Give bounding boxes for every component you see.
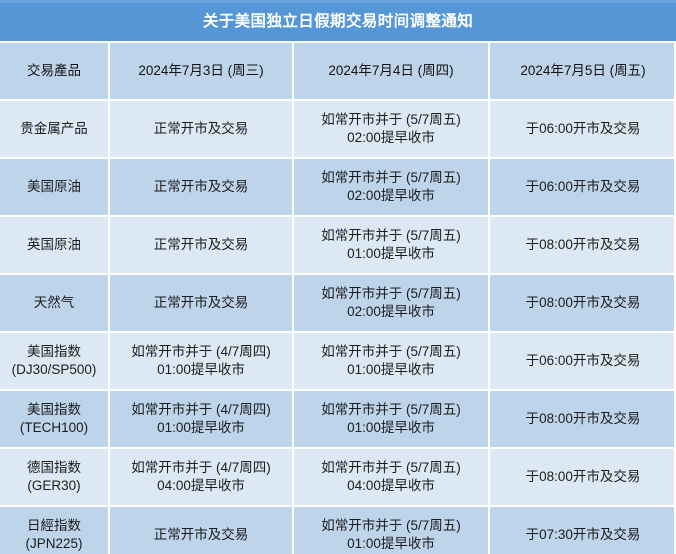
day1-line2: 04:00提早收市 (157, 477, 245, 495)
product-code: (GER30) (27, 477, 80, 495)
cell-product: 英国原油 (0, 217, 110, 273)
product-name: 日經指数 (27, 517, 81, 535)
product-name: 美国指数 (27, 343, 81, 361)
cell-day3: 于07:30开市及交易 (490, 507, 676, 554)
cell-product: 贵金属产品 (0, 101, 110, 157)
table-header-row: 交易產品 2024年7月3日 (周三) 2024年7月4日 (周四) 2024年… (0, 43, 676, 101)
day2-line1: 如常开市并于 (5/7周五) (321, 111, 461, 129)
day3-line1: 于06:00开市及交易 (526, 178, 641, 196)
day2-line1: 如常开市并于 (5/7周五) (321, 459, 461, 477)
cell-day2: 如常开市并于 (5/7周五) 01:00提早收市 (294, 391, 490, 447)
product-code: (TECH100) (20, 419, 88, 437)
cell-day1: 正常开市及交易 (110, 159, 294, 215)
column-header-day2: 2024年7月4日 (周四) (294, 43, 490, 99)
day1-line1: 正常开市及交易 (154, 178, 249, 196)
day1-line2: 01:00提早收市 (157, 419, 245, 437)
cell-product: 美国原油 (0, 159, 110, 215)
cell-day2: 如常开市并于 (5/7周五) 02:00提早收市 (294, 275, 490, 331)
column-header-day1: 2024年7月3日 (周三) (110, 43, 294, 99)
cell-day2: 如常开市并于 (5/7周五) 01:00提早收市 (294, 333, 490, 389)
cell-day2: 如常开市并于 (5/7周五) 02:00提早收市 (294, 159, 490, 215)
day2-line1: 如常开市并于 (5/7周五) (321, 401, 461, 419)
cell-day3: 于06:00开市及交易 (490, 159, 676, 215)
table-row: 日經指数 (JPN225) 正常开市及交易 如常开市并于 (5/7周五) 01:… (0, 507, 676, 554)
day3-line1: 于06:00开市及交易 (526, 352, 641, 370)
day2-line1: 如常开市并于 (5/7周五) (321, 517, 461, 535)
table-row: 贵金属产品 正常开市及交易 如常开市并于 (5/7周五) 02:00提早收市 于… (0, 101, 676, 159)
cell-product: 德国指数 (GER30) (0, 449, 110, 505)
day1-line1: 正常开市及交易 (154, 120, 249, 138)
day1-line1: 如常开市并于 (4/7周四) (131, 343, 271, 361)
day2-line2: 01:00提早收市 (347, 361, 435, 379)
table-row: 德国指数 (GER30) 如常开市并于 (4/7周四) 04:00提早收市 如常… (0, 449, 676, 507)
day3-line1: 于08:00开市及交易 (526, 468, 641, 486)
day3-line1: 于07:30开市及交易 (526, 526, 641, 544)
day2-line1: 如常开市并于 (5/7周五) (321, 227, 461, 245)
day2-line1: 如常开市并于 (5/7周五) (321, 343, 461, 361)
cell-day1: 如常开市并于 (4/7周四) 01:00提早收市 (110, 391, 294, 447)
day2-line2: 02:00提早收市 (347, 187, 435, 205)
cell-day3: 于08:00开市及交易 (490, 275, 676, 331)
table-row: 英国原油 正常开市及交易 如常开市并于 (5/7周五) 01:00提早收市 于0… (0, 217, 676, 275)
day3-line1: 于08:00开市及交易 (526, 236, 641, 254)
cell-day2: 如常开市并于 (5/7周五) 02:00提早收市 (294, 101, 490, 157)
day2-line2: 01:00提早收市 (347, 245, 435, 263)
cell-day1: 正常开市及交易 (110, 101, 294, 157)
product-name: 贵金属产品 (20, 120, 88, 138)
product-code: (DJ30/SP500) (12, 361, 97, 379)
cell-product: 美国指数 (TECH100) (0, 391, 110, 447)
cell-day2: 如常开市并于 (5/7周五) 01:00提早收市 (294, 507, 490, 554)
table-row: 美国指数 (TECH100) 如常开市并于 (4/7周四) 01:00提早收市 … (0, 391, 676, 449)
table-row: 天然气 正常开市及交易 如常开市并于 (5/7周五) 02:00提早收市 于08… (0, 275, 676, 333)
cell-day1: 正常开市及交易 (110, 507, 294, 554)
schedule-table: 交易產品 2024年7月3日 (周三) 2024年7月4日 (周四) 2024年… (0, 41, 676, 554)
cell-day1: 如常开市并于 (4/7周四) 04:00提早收市 (110, 449, 294, 505)
day2-line2: 01:00提早收市 (347, 419, 435, 437)
day1-line1: 正常开市及交易 (154, 294, 249, 312)
day1-line2: 01:00提早收市 (157, 361, 245, 379)
cell-day3: 于08:00开市及交易 (490, 391, 676, 447)
day2-line2: 04:00提早收市 (347, 477, 435, 495)
table-row: 美国指数 (DJ30/SP500) 如常开市并于 (4/7周四) 01:00提早… (0, 333, 676, 391)
product-code: (JPN225) (25, 535, 82, 553)
holiday-trading-hours-notice: 关于美国独立日假期交易时间调整通知 交易產品 2024年7月3日 (周三) 20… (0, 0, 676, 554)
day2-line2: 01:00提早收市 (347, 535, 435, 553)
day2-line1: 如常开市并于 (5/7周五) (321, 169, 461, 187)
product-name: 德国指数 (27, 459, 81, 477)
day2-line2: 02:00提早收市 (347, 303, 435, 321)
cell-day3: 于08:00开市及交易 (490, 449, 676, 505)
table-row: 美国原油 正常开市及交易 如常开市并于 (5/7周五) 02:00提早收市 于0… (0, 159, 676, 217)
day1-line1: 正常开市及交易 (154, 526, 249, 544)
column-header-day3: 2024年7月5日 (周五) (490, 43, 676, 99)
cell-day2: 如常开市并于 (5/7周五) 04:00提早收市 (294, 449, 490, 505)
cell-product: 美国指数 (DJ30/SP500) (0, 333, 110, 389)
cell-day1: 正常开市及交易 (110, 217, 294, 273)
product-name: 英国原油 (27, 236, 81, 254)
product-name: 美国原油 (27, 178, 81, 196)
cell-day3: 于08:00开市及交易 (490, 217, 676, 273)
day3-line1: 于06:00开市及交易 (526, 120, 641, 138)
day3-line1: 于08:00开市及交易 (526, 294, 641, 312)
cell-product: 日經指数 (JPN225) (0, 507, 110, 554)
cell-day1: 如常开市并于 (4/7周四) 01:00提早收市 (110, 333, 294, 389)
day1-line1: 正常开市及交易 (154, 236, 249, 254)
cell-day1: 正常开市及交易 (110, 275, 294, 331)
day2-line2: 02:00提早收市 (347, 129, 435, 147)
page-title: 关于美国独立日假期交易时间调整通知 (203, 14, 473, 30)
day2-line1: 如常开市并于 (5/7周五) (321, 285, 461, 303)
day1-line1: 如常开市并于 (4/7周四) (131, 459, 271, 477)
product-name: 天然气 (34, 294, 75, 312)
cell-product: 天然气 (0, 275, 110, 331)
notice-banner: 关于美国独立日假期交易时间调整通知 (0, 3, 676, 41)
cell-day3: 于06:00开市及交易 (490, 333, 676, 389)
column-header-product: 交易產品 (0, 43, 110, 99)
cell-day2: 如常开市并于 (5/7周五) 01:00提早收市 (294, 217, 490, 273)
day1-line1: 如常开市并于 (4/7周四) (131, 401, 271, 419)
product-name: 美国指数 (27, 401, 81, 419)
day3-line1: 于08:00开市及交易 (526, 410, 641, 428)
cell-day3: 于06:00开市及交易 (490, 101, 676, 157)
